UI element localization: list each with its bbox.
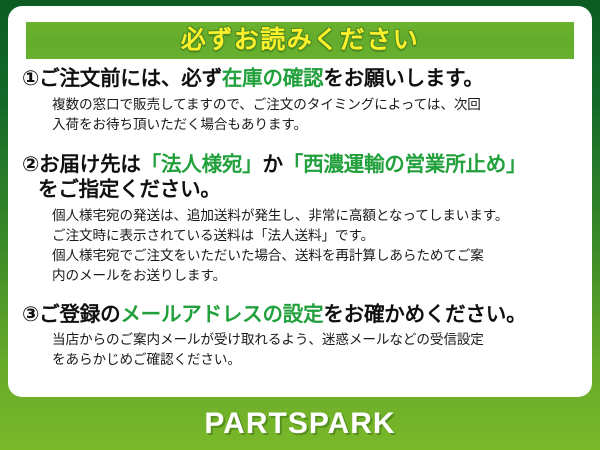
notice-item-2-heading-line2: をご指定ください。 bbox=[22, 177, 580, 203]
notice-item-3: ③ご登録のメールアドレスの設定をお確かめください。 当店からのご案内メールが受け… bbox=[22, 302, 580, 371]
notice-item-3-heading-part-0: ご登録の bbox=[39, 303, 120, 326]
notice-item-2-heading-highlight-2: 「西濃運輸の営業所止め」 bbox=[283, 153, 527, 176]
notice-banner-image: 必ずお読みください ①ご注文前には、必ず在庫の確認をお願いします。 複数の窓口で… bbox=[0, 0, 600, 450]
notice-item-2: ②お届け先は「法人様宛」か「西濃運輸の営業所止め」 をご指定ください。 個人様宅… bbox=[22, 152, 580, 286]
notice-item-1-heading-highlight: 在庫の確認 bbox=[222, 67, 324, 90]
notice-item-2-heading-highlight-1: 「法人様宛」 bbox=[141, 153, 263, 176]
notice-item-2-heading-part-0: お届け先は bbox=[39, 153, 141, 176]
notice-item-3-heading-highlight: メールアドレスの設定 bbox=[120, 303, 323, 326]
notice-item-1-body-line-2: 入荷をお待ち頂いただく場合もあります。 bbox=[52, 115, 580, 135]
notice-item-3-body-line-2: をあらかじめご確認ください。 bbox=[52, 350, 580, 370]
notice-item-2-heading: ②お届け先は「法人様宛」か「西濃運輸の営業所止め」 をご指定ください。 bbox=[22, 152, 580, 204]
footer-brand-band: PARTSPARK bbox=[0, 397, 600, 450]
notice-item-1-number: ① bbox=[22, 67, 39, 90]
notice-item-1-body: 複数の窓口で販売してますので、ご注文のタイミングによっては、次回 入荷をお待ち頂… bbox=[22, 95, 580, 135]
notice-item-1-body-line-1: 複数の窓口で販売してますので、ご注文のタイミングによっては、次回 bbox=[52, 95, 580, 115]
notice-item-1-heading-part-2: をお願いします。 bbox=[323, 67, 483, 90]
notice-item-2-body-line-2: ご注文時に表示されている送料は「法人送料」です。 bbox=[52, 226, 580, 246]
notice-item-2-body-line-4: 内のメールをお送りします。 bbox=[52, 266, 580, 286]
notice-item-1-heading-part-0: ご注文前には、必ず bbox=[39, 67, 222, 90]
notice-item-1: ①ご注文前には、必ず在庫の確認をお願いします。 複数の窓口で販売してますので、ご… bbox=[22, 66, 580, 135]
notice-item-3-body: 当店からのご案内メールが受け取れるよう、迷惑メールなどの受信設定 をあらかじめご… bbox=[22, 330, 580, 370]
notice-item-3-number: ③ bbox=[22, 303, 39, 326]
notice-item-3-heading-part-2: をお確かめください。 bbox=[323, 303, 526, 326]
notice-item-1-heading: ①ご注文前には、必ず在庫の確認をお願いします。 bbox=[22, 66, 580, 92]
spacer-1 bbox=[22, 139, 580, 152]
spacer-2 bbox=[22, 290, 580, 302]
notice-item-2-heading-part-2: か bbox=[262, 153, 282, 176]
header-banner: 必ずお読みください bbox=[26, 22, 574, 59]
notice-item-3-body-line-1: 当店からのご案内メールが受け取れるよう、迷惑メールなどの受信設定 bbox=[52, 330, 580, 350]
white-card: 必ずお読みください ①ご注文前には、必ず在庫の確認をお願いします。 複数の窓口で… bbox=[8, 6, 592, 397]
notice-item-2-body: 個人様宅宛の発送は、追加送料が発生し、非常に高額となってしまいます。 ご注文時に… bbox=[22, 206, 580, 285]
notice-item-2-number: ② bbox=[22, 153, 39, 176]
notice-list: ①ご注文前には、必ず在庫の確認をお願いします。 複数の窓口で販売してますので、ご… bbox=[8, 66, 592, 374]
banner-title: 必ずお読みください bbox=[181, 28, 420, 53]
notice-item-2-body-line-1: 個人様宅宛の発送は、追加送料が発生し、非常に高額となってしまいます。 bbox=[52, 206, 580, 226]
notice-item-3-heading: ③ご登録のメールアドレスの設定をお確かめください。 bbox=[22, 302, 580, 328]
notice-item-2-body-line-3: 個人様宅宛でご注文をいただいた場合、送料を再計算しあらためてご案 bbox=[52, 246, 580, 266]
brand-name: PARTSPARK bbox=[204, 409, 395, 439]
